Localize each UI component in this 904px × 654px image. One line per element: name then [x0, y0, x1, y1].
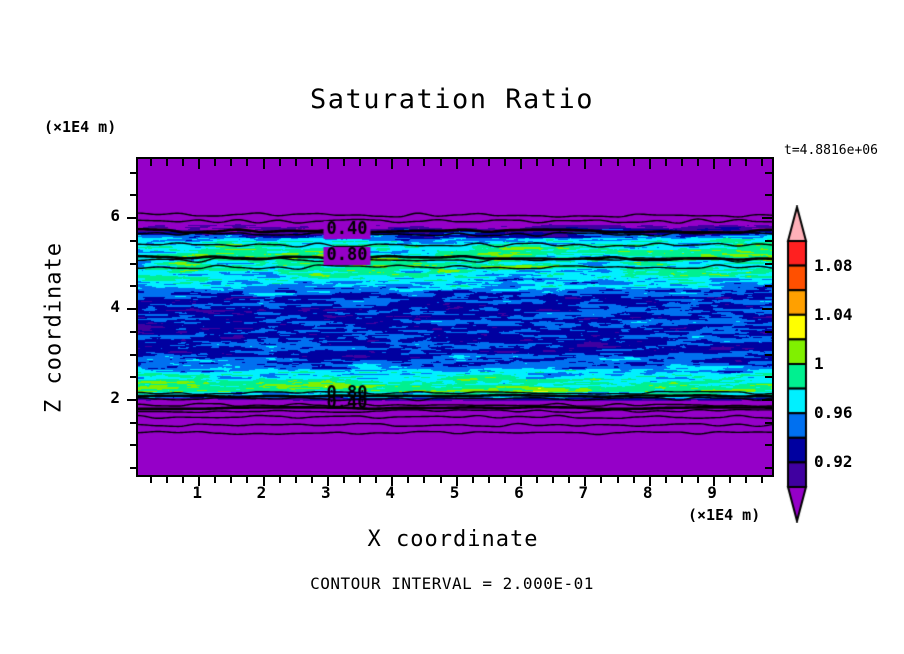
y-axis-tick: [130, 172, 138, 174]
y-axis-tick-right: [762, 399, 772, 401]
x-axis-tick-top: [263, 159, 265, 169]
x-axis-tick: [761, 475, 763, 483]
x-axis-tick-top: [375, 159, 377, 166]
x-axis-tick-top: [665, 159, 667, 166]
y-axis-tick: [127, 308, 138, 310]
x-tick-label: 8: [628, 483, 668, 502]
x-axis-tick-top: [407, 159, 409, 166]
x-axis-tick: [182, 475, 184, 483]
x-axis-tick: [166, 475, 168, 483]
y-axis-tick-right: [765, 444, 772, 446]
y-tick-label: 6: [80, 206, 120, 225]
x-tick-label: 3: [306, 483, 346, 502]
y-axis-unit-label: (×1E4 m): [44, 118, 116, 136]
x-axis-tick: [150, 475, 152, 483]
x-axis-tick: [617, 475, 619, 483]
y-axis-tick-right: [765, 194, 772, 196]
x-axis-tick-top: [713, 159, 715, 169]
colorbar-canvas: [786, 205, 808, 523]
contour-field-canvas: [138, 159, 772, 475]
x-axis-tick: [729, 475, 731, 483]
x-axis-tick: [472, 475, 474, 483]
time-annotation: t=4.8816e+06: [784, 143, 878, 158]
x-tick-label: 9: [692, 483, 732, 502]
x-axis-tick-top: [649, 159, 651, 169]
x-axis-unit-label: (×1E4 m): [688, 506, 760, 524]
y-axis-tick-right: [765, 354, 772, 356]
y-axis-tick: [127, 217, 138, 219]
x-axis-tick: [697, 475, 699, 483]
x-axis-tick-top: [568, 159, 570, 166]
y-axis-tick: [130, 354, 138, 356]
x-axis-tick-top: [697, 159, 699, 166]
x-axis-tick-top: [391, 159, 393, 169]
x-axis-tick: [665, 475, 667, 483]
x-axis-tick-top: [617, 159, 619, 166]
x-axis-tick-top: [600, 159, 602, 166]
x-axis-tick-top: [295, 159, 297, 166]
y-axis-tick-right: [765, 467, 772, 469]
x-axis-tick: [568, 475, 570, 483]
x-axis-tick: [214, 475, 216, 483]
x-axis-tick-top: [166, 159, 168, 166]
x-axis-tick-top: [729, 159, 731, 166]
x-axis-tick-top: [311, 159, 313, 166]
x-axis-tick: [359, 475, 361, 483]
y-axis-tick: [130, 194, 138, 196]
x-tick-label: 6: [499, 483, 539, 502]
x-axis-tick: [311, 475, 313, 483]
x-axis-tick-top: [198, 159, 200, 169]
x-axis-tick: [407, 475, 409, 483]
y-axis-tick-right: [762, 308, 772, 310]
x-tick-label: 1: [177, 483, 217, 502]
y-axis-tick: [130, 331, 138, 333]
page-title: Saturation Ratio: [0, 84, 904, 115]
x-axis-tick-top: [504, 159, 506, 166]
x-axis-tick-top: [359, 159, 361, 166]
x-tick-label: 7: [563, 483, 603, 502]
x-axis-tick-top: [472, 159, 474, 166]
x-axis-tick: [230, 475, 232, 483]
y-axis-tick-right: [765, 331, 772, 333]
x-axis-tick: [488, 475, 490, 483]
y-axis-tick-right: [765, 263, 772, 265]
x-axis-tick: [423, 475, 425, 483]
x-axis-tick-top: [681, 159, 683, 166]
x-axis-title: X coordinate: [136, 527, 770, 552]
y-axis-tick: [130, 444, 138, 446]
y-axis-tick-right: [762, 217, 772, 219]
x-axis-tick-top: [327, 159, 329, 169]
colorbar-tick-label: 1.08: [814, 256, 853, 275]
y-axis-tick: [130, 376, 138, 378]
y-axis-tick: [130, 263, 138, 265]
x-axis-tick-top: [488, 159, 490, 166]
x-axis-tick: [343, 475, 345, 483]
x-tick-label: 5: [435, 483, 475, 502]
contour-interval-caption: CONTOUR INTERVAL = 2.000E-01: [0, 574, 904, 593]
y-axis-tick-right: [765, 376, 772, 378]
y-tick-label: 4: [80, 297, 120, 316]
x-axis-tick: [246, 475, 248, 483]
colorbar-tick-label: 1.04: [814, 305, 853, 324]
x-axis-tick: [745, 475, 747, 483]
x-axis-tick-top: [761, 159, 763, 166]
y-axis-title: Z coordinate: [42, 218, 67, 438]
y-axis-tick-right: [765, 422, 772, 424]
y-axis-tick: [130, 240, 138, 242]
x-axis-tick: [552, 475, 554, 483]
x-axis-tick-top: [230, 159, 232, 166]
x-tick-label: 2: [242, 483, 282, 502]
x-axis-tick-top: [279, 159, 281, 166]
colorbar-tick-label: 0.96: [814, 403, 853, 422]
colorbar-tick-label: 1: [814, 354, 824, 373]
contour-plot-area[interactable]: [136, 157, 774, 477]
figure-root: Saturation Ratio (×1E4 m) t=4.8816e+06 X…: [0, 0, 904, 654]
y-tick-label: 2: [80, 388, 120, 407]
y-axis-tick-right: [765, 172, 772, 174]
x-axis-tick-top: [552, 159, 554, 166]
x-axis-tick: [536, 475, 538, 483]
y-axis-tick: [130, 422, 138, 424]
x-axis-tick-top: [440, 159, 442, 166]
x-axis-tick-top: [150, 159, 152, 166]
y-axis-tick: [130, 467, 138, 469]
x-axis-tick-top: [423, 159, 425, 166]
x-axis-tick: [279, 475, 281, 483]
y-axis-tick: [130, 285, 138, 287]
x-axis-tick-top: [745, 159, 747, 166]
x-axis-tick: [295, 475, 297, 483]
y-axis-tick-right: [765, 240, 772, 242]
colorbar[interactable]: [786, 205, 808, 523]
x-axis-tick-top: [343, 159, 345, 166]
x-axis-tick: [504, 475, 506, 483]
y-axis-tick-right: [765, 285, 772, 287]
x-axis-tick: [600, 475, 602, 483]
colorbar-tick-label: 0.92: [814, 452, 853, 471]
x-axis-tick-top: [214, 159, 216, 166]
x-axis-tick-top: [182, 159, 184, 166]
x-axis-tick: [633, 475, 635, 483]
x-axis-tick: [681, 475, 683, 483]
x-axis-tick-top: [584, 159, 586, 169]
y-axis-tick: [127, 399, 138, 401]
x-tick-label: 4: [370, 483, 410, 502]
x-axis-tick-top: [633, 159, 635, 166]
x-axis-tick-top: [520, 159, 522, 169]
x-axis-tick: [375, 475, 377, 483]
x-axis-tick-top: [246, 159, 248, 166]
x-axis-tick-top: [536, 159, 538, 166]
x-axis-tick: [440, 475, 442, 483]
x-axis-tick-top: [456, 159, 458, 169]
